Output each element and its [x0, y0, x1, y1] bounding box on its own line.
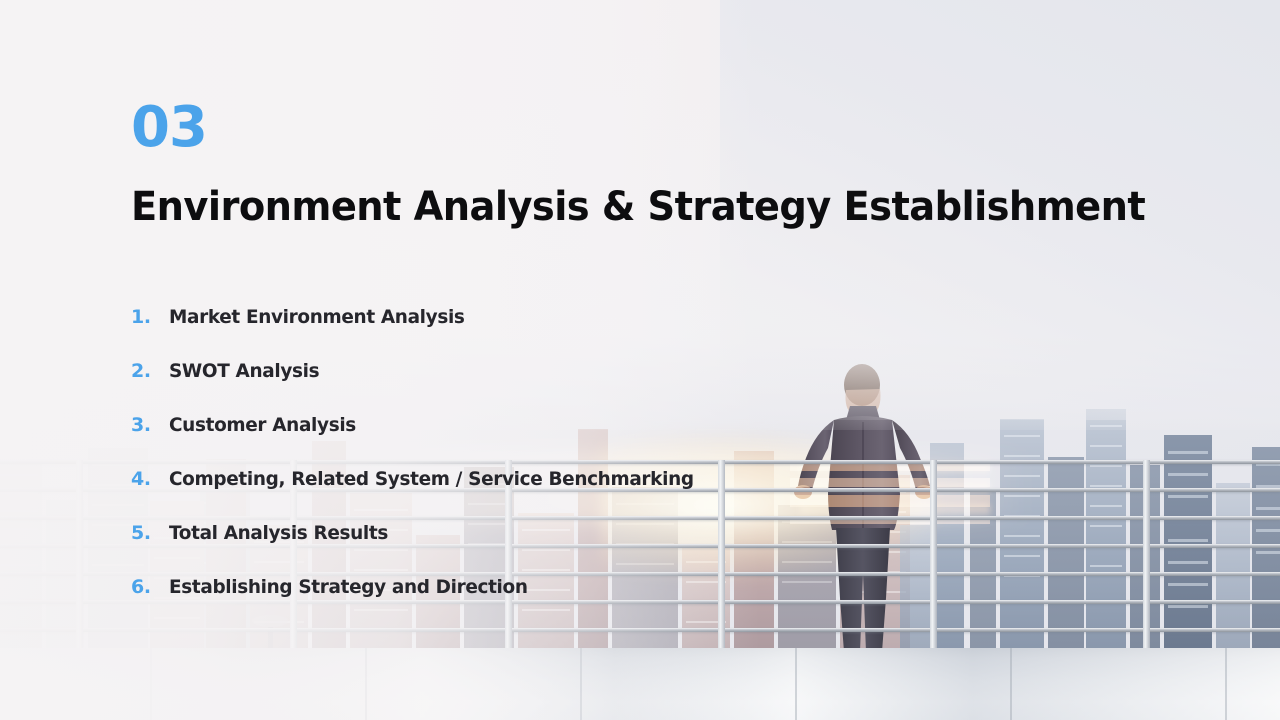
list-item[interactable]: 5. Total Analysis Results	[131, 522, 1031, 576]
list-item[interactable]: 6. Establishing Strategy and Direction	[131, 576, 1031, 630]
section-number: 03	[131, 100, 207, 156]
list-item-number: 4.	[131, 468, 169, 490]
list-item-label: Customer Analysis	[169, 414, 356, 436]
page-title: Environment Analysis & Strategy Establis…	[131, 186, 1145, 229]
list-item[interactable]: 4. Competing, Related System / Service B…	[131, 468, 1031, 522]
list-item-number: 2.	[131, 360, 169, 382]
list-item-label: Total Analysis Results	[169, 522, 388, 544]
list-item-number: 5.	[131, 522, 169, 544]
list-item[interactable]: 3. Customer Analysis	[131, 414, 1031, 468]
list-item-number: 3.	[131, 414, 169, 436]
list-item-label: SWOT Analysis	[169, 360, 319, 382]
list-item-number: 1.	[131, 306, 169, 328]
list-item[interactable]: 2. SWOT Analysis	[131, 360, 1031, 414]
list-item[interactable]: 1. Market Environment Analysis	[131, 306, 1031, 360]
list-item-number: 6.	[131, 576, 169, 598]
presentation-slide: 03 Environment Analysis & Strategy Estab…	[0, 0, 1280, 720]
list-item-label: Market Environment Analysis	[169, 306, 465, 328]
agenda-list: 1. Market Environment Analysis 2. SWOT A…	[131, 306, 1031, 630]
list-item-label: Establishing Strategy and Direction	[169, 576, 528, 598]
slide-content: 03 Environment Analysis & Strategy Estab…	[0, 0, 1280, 720]
list-item-label: Competing, Related System / Service Benc…	[169, 468, 694, 490]
